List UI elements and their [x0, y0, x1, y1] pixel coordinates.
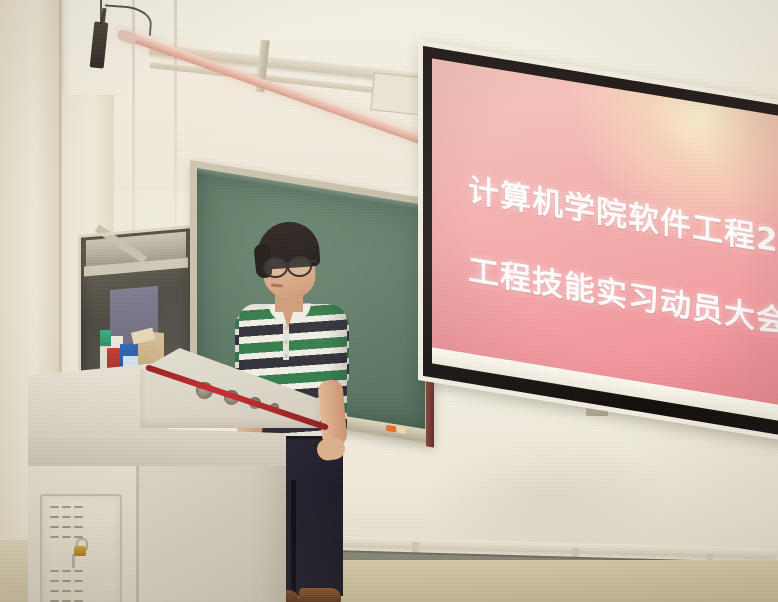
- cabinet-vent: [74, 506, 83, 508]
- chalk-piece-white: [397, 427, 406, 434]
- cabinet-vent: [74, 590, 83, 592]
- projection-screen: 计算机学院软件工程21级 工程技能实习动员大会: [418, 40, 778, 454]
- cabinet-vent: [62, 570, 71, 572]
- speaker-shoe-right: [299, 588, 341, 602]
- cabinet-vent: [50, 506, 59, 508]
- cabinet-vent: [50, 580, 59, 582]
- cabinet-vent: [74, 580, 83, 582]
- cabinet-vent: [50, 536, 59, 538]
- podium: [28, 340, 300, 580]
- cabinet-vent: [74, 570, 83, 572]
- cabinet-vent: [50, 590, 59, 592]
- cabinet-vent: [74, 516, 83, 518]
- cabinet-vent: [50, 570, 59, 572]
- cabinet-vent: [62, 590, 71, 592]
- hanging-cable-vertical: [100, 0, 102, 24]
- polo-button: [284, 326, 288, 330]
- padlock-icon[interactable]: [74, 546, 86, 556]
- cabinet-handle[interactable]: [72, 554, 75, 568]
- wall-pilaster-2: [174, 0, 177, 230]
- cabinet-vent: [62, 516, 71, 518]
- glasses-lens-left: [263, 257, 288, 278]
- cabinet-vent: [50, 526, 59, 528]
- cabinet-vent: [62, 506, 71, 508]
- cabinet-vent: [62, 526, 71, 528]
- cabinet-vent: [50, 516, 59, 518]
- cabinet-vent: [74, 526, 83, 528]
- lecture-hall-photo: 计算机学院软件工程21级 工程技能实习动员大会: [0, 0, 778, 602]
- cabinet-vent: [62, 536, 71, 538]
- cabinet-vent: [62, 580, 71, 582]
- glasses-bridge: [283, 262, 289, 264]
